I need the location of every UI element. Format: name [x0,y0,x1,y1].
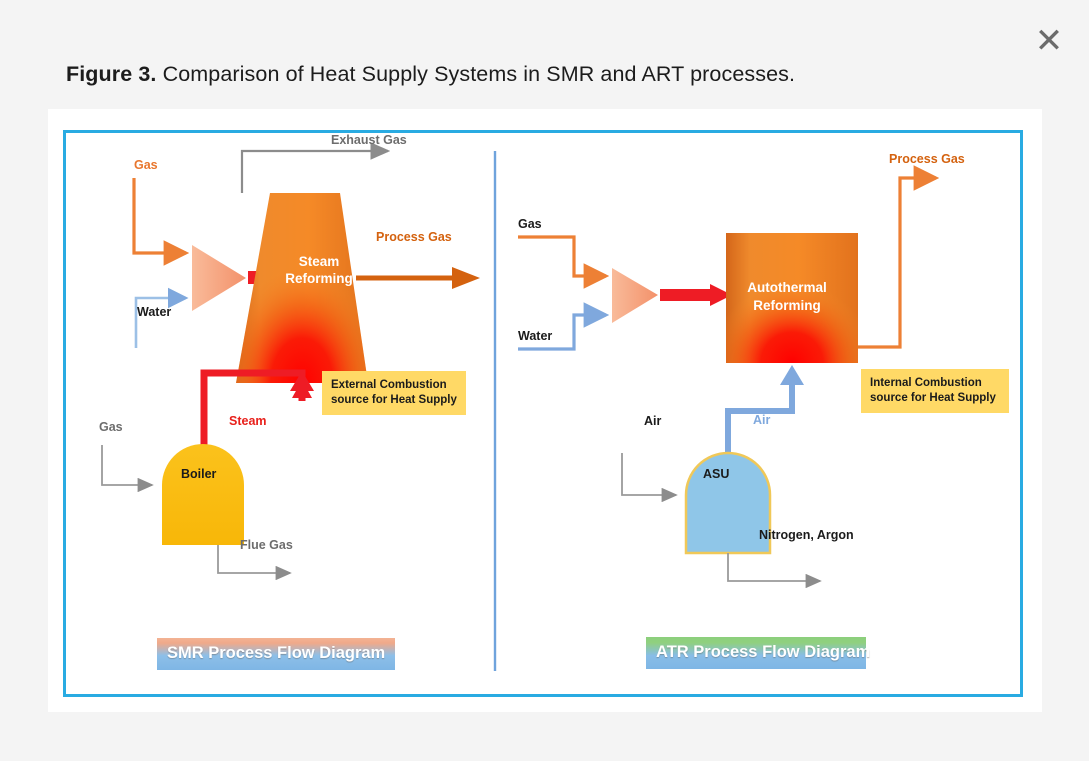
banner-atr-process-flow-diagram: ATR Process Flow Diagram [646,637,866,669]
label-gas-inlet-boiler: Gas [99,420,123,434]
label-air-inlet-asu: Air [644,414,661,428]
callout-external-combustion: External Combustion source for Heat Supp… [322,371,466,415]
label-nitrogen-argon: Nitrogen, Argon [759,528,854,542]
label-steam-reforming-unit: Steam Reforming [265,253,373,287]
process-flow-diagram [66,133,1020,694]
label-air-to-reformer: Air [753,413,770,427]
label-process-gas-atr: Process Gas [889,152,965,166]
label-water-inlet-smr: Water [137,305,171,319]
label-gas-inlet-smr: Gas [134,158,158,172]
label-process-gas-smr: Process Gas [376,230,452,244]
steam-reforming-line1: Steam [265,253,373,270]
close-icon[interactable]: ✕ [1030,22,1068,60]
figure-card: Gas Water Exhaust Gas Process Gas Steam … [48,109,1042,712]
label-flue-gas: Flue Gas [240,538,293,552]
label-asu-unit: ASU [703,467,729,481]
label-boiler-unit: Boiler [181,467,216,481]
steam-reforming-line2: Reforming [265,270,373,287]
autothermal-line1: Autothermal [722,279,852,297]
label-gas-inlet-atr: Gas [518,217,542,231]
label-water-inlet-atr: Water [518,329,552,343]
autothermal-line2: Reforming [722,297,852,315]
banner-smr-process-flow-diagram: SMR Process Flow Diagram [157,638,395,670]
figure-caption: Figure 3. Comparison of Heat Supply Syst… [66,62,795,87]
callout-internal-combustion: Internal Combustion source for Heat Supp… [861,369,1009,413]
label-steam-stream: Steam [229,414,267,428]
label-autothermal-reforming-unit: Autothermal Reforming [722,279,852,315]
label-exhaust-gas: Exhaust Gas [331,133,407,147]
diagram-frame: Gas Water Exhaust Gas Process Gas Steam … [63,130,1023,697]
figure-caption-text: Comparison of Heat Supply Systems in SMR… [157,62,796,86]
figure-number: Figure 3. [66,62,157,86]
